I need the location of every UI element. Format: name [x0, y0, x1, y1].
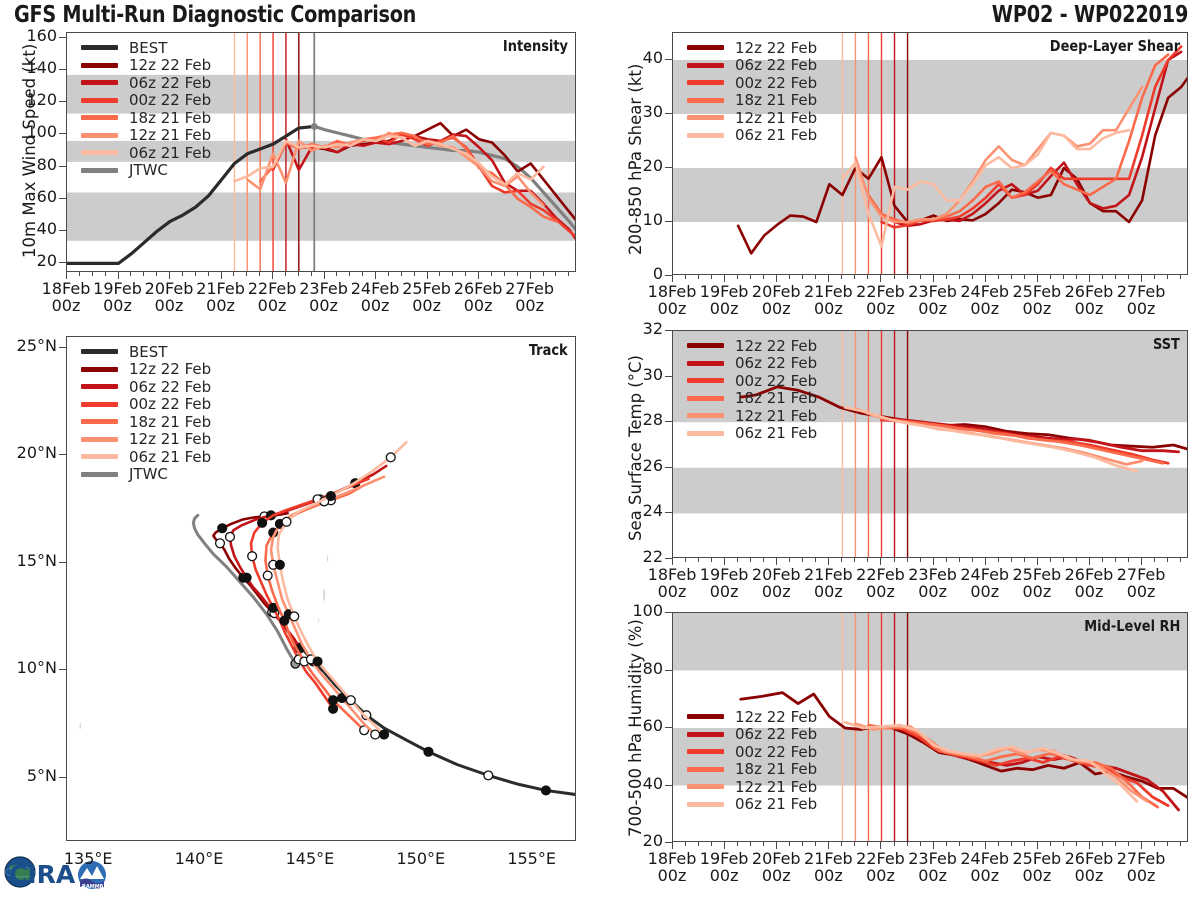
x-tick-label: 22Feb00z: [850, 850, 910, 885]
x-minor-tick: [555, 272, 556, 276]
x-tick-hour: 00z: [970, 299, 999, 318]
y-tick-label: 10: [643, 210, 663, 229]
x-minor-tick: [789, 842, 790, 846]
legend-entry: 06z 22 Feb: [687, 355, 817, 373]
legend-swatch-icon: [687, 396, 724, 401]
y-tick-mark: [665, 421, 672, 422]
x-minor-tick: [1102, 842, 1103, 846]
x-tick-day: 26Feb: [454, 279, 503, 298]
legend-label: 00z 22 Feb: [129, 395, 211, 413]
track-marker: [290, 612, 299, 621]
x-tick-hour: 00z: [412, 296, 441, 315]
legend-entry: BEST: [81, 39, 211, 57]
x-tick-day: 20Feb: [145, 279, 194, 298]
x-tick-hour: 00z: [1075, 299, 1104, 318]
x-tick-label: 18Feb00z: [642, 283, 702, 318]
legend-entry: JTWC: [81, 162, 211, 180]
x-minor-tick: [1011, 275, 1012, 279]
x-minor-tick: [946, 275, 947, 279]
x-tick-day: 20Feb: [752, 565, 801, 584]
legend-entry: 12z 22 Feb: [81, 361, 211, 379]
x-tick-hour: 00z: [658, 299, 687, 318]
x-tick-day: 22Feb: [856, 565, 905, 584]
x-minor-tick: [92, 272, 93, 276]
legend-entry: 06z 21 Feb: [687, 425, 817, 443]
x-tick-label: 27Feb00z: [1111, 850, 1171, 885]
x-minor-tick: [763, 275, 764, 279]
y-tick-mark: [665, 59, 672, 60]
legend-swatch-icon: [81, 45, 118, 50]
y-tick-label: 0: [653, 264, 663, 283]
x-tick-hour: 00z: [970, 582, 999, 601]
x-minor-tick: [1050, 842, 1051, 846]
x-tick-label: 27Feb00z: [500, 280, 560, 315]
x-tick-mark: [880, 275, 881, 282]
legend-label: 00z 22 Feb: [129, 91, 211, 109]
x-minor-tick: [1115, 275, 1116, 279]
legend-entry: 12z 21 Feb: [687, 407, 817, 425]
y-axis-label: 700-500 hPa Humidity (%): [626, 620, 645, 838]
legend-label: 12z 21 Feb: [735, 407, 817, 425]
legend-sst: 12z 22 Feb06z 22 Feb00z 22 Feb18z 21 Feb…: [687, 337, 817, 442]
y-tick-mark: [665, 376, 672, 377]
y-tick-label: 160: [26, 26, 57, 45]
legend-swatch-icon: [687, 98, 724, 103]
legend-swatch-icon: [687, 80, 724, 85]
y-tick-label: 20: [643, 156, 663, 175]
x-tick-hour: 00z: [918, 582, 947, 601]
legend-label: 12z 22 Feb: [735, 39, 817, 57]
x-minor-tick: [907, 842, 908, 846]
x-tick-mark: [427, 272, 428, 279]
x-minor-tick: [867, 275, 868, 279]
track-marker: [542, 786, 551, 795]
legend-swatch-icon: [687, 732, 724, 737]
x-tick-hour: 00z: [155, 296, 184, 315]
x-minor-tick: [711, 558, 712, 562]
x-minor-tick: [362, 272, 363, 276]
x-tick-day: 27Feb: [1117, 282, 1166, 301]
legend-swatch-icon: [687, 45, 724, 50]
legend-swatch-icon: [687, 343, 724, 348]
x-minor-tick: [1154, 558, 1155, 562]
legend-label: 06z 22 Feb: [735, 56, 817, 74]
x-tick-label: 23Feb00z: [903, 850, 963, 885]
x-tick-hour: 00z: [1022, 866, 1051, 885]
track-marker: [329, 696, 338, 705]
x-tick-label: 20Feb00z: [746, 283, 806, 318]
intensity-band: [673, 468, 1188, 514]
legend-label: 18z 21 Feb: [735, 91, 817, 109]
x-tick-hour: 00z: [258, 296, 287, 315]
x-tick-hour: 00z: [1022, 299, 1051, 318]
x-tick-hour: 00z: [710, 582, 739, 601]
legend-swatch-icon: [687, 784, 724, 789]
x-tick-label: 26Feb00z: [1059, 850, 1119, 885]
lon-tick-label: 135°E: [52, 850, 124, 867]
x-tick-hour: 00z: [658, 866, 687, 885]
legend-swatch-icon: [687, 133, 724, 138]
x-tick-mark: [375, 272, 376, 279]
x-minor-tick: [1128, 275, 1129, 279]
panel-label-shear: Deep-Layer Shear: [1050, 37, 1180, 55]
legend-label: 00z 22 Feb: [735, 372, 817, 390]
x-tick-mark: [933, 558, 934, 565]
y-tick-mark: [59, 101, 66, 102]
x-tick-label: 25Feb00z: [1007, 850, 1067, 885]
panel-rh: Mid-Level RH12z 22 Feb06z 22 Feb00z 22 F…: [672, 612, 1188, 842]
y-tick-label: 20: [643, 831, 663, 850]
x-minor-tick: [815, 842, 816, 846]
legend-entry: 18z 21 Feb: [687, 761, 817, 779]
x-tick-day: 25Feb: [1013, 849, 1062, 868]
x-minor-tick: [854, 558, 855, 562]
x-minor-tick: [1024, 558, 1025, 562]
x-minor-tick: [439, 272, 440, 276]
x-minor-tick: [298, 272, 299, 276]
y-tick-label: 40: [37, 219, 57, 238]
storm-id-title: WP02 - WP022019: [992, 2, 1188, 28]
x-tick-mark: [478, 272, 479, 279]
x-minor-tick: [998, 275, 999, 279]
y-tick-label: 30: [643, 365, 663, 384]
panel-track: TrackBEST12z 22 Feb06z 22 Feb00z 22 Feb1…: [66, 336, 576, 841]
track-marker: [226, 532, 235, 541]
x-minor-tick: [1102, 558, 1103, 562]
panel-label-track: Track: [529, 341, 568, 359]
legend-label: 06z 21 Feb: [735, 126, 817, 144]
legend-entry: 12z 22 Feb: [687, 708, 817, 726]
x-minor-tick: [920, 275, 921, 279]
series-track-06z-21-feb: [278, 442, 407, 734]
y-tick-mark: [665, 785, 672, 786]
y-tick-label: 22: [643, 547, 663, 566]
track-marker: [326, 492, 335, 501]
x-tick-label: 19Feb00z: [694, 566, 754, 601]
x-tick-hour: 00z: [1127, 866, 1156, 885]
x-tick-day: 19Feb: [700, 565, 749, 584]
x-tick-mark: [985, 275, 986, 282]
x-tick-hour: 00z: [1127, 582, 1156, 601]
legend-swatch-icon: [81, 63, 118, 68]
legend-label: 18z 21 Feb: [129, 413, 211, 431]
x-tick-hour: 00z: [1022, 582, 1051, 601]
legend-label: 12z 21 Feb: [735, 109, 817, 127]
y-tick-mark: [665, 727, 672, 728]
x-tick-day: 23Feb: [908, 565, 957, 584]
legend-label: 18z 21 Feb: [735, 760, 817, 778]
x-minor-tick: [452, 272, 453, 276]
y-tick-label: 26: [643, 456, 663, 475]
x-tick-hour: 00z: [762, 866, 791, 885]
series-track-best: [295, 642, 576, 795]
legend-entry: 18z 21 Feb: [81, 413, 211, 431]
x-minor-tick: [1180, 842, 1181, 846]
x-minor-tick: [143, 272, 144, 276]
x-tick-day: 26Feb: [1065, 565, 1114, 584]
x-tick-day: 21Feb: [804, 849, 853, 868]
lon-tick-label: 150°E: [385, 850, 457, 867]
x-minor-tick: [130, 272, 131, 276]
legend-entry: 06z 22 Feb: [687, 57, 817, 75]
x-tick-mark: [169, 272, 170, 279]
x-tick-day: 27Feb: [505, 279, 554, 298]
y-tick-label: 40: [643, 774, 663, 793]
island-shape: [318, 618, 319, 622]
legend-entry: 12z 22 Feb: [687, 39, 817, 57]
y-tick-label: 25°N: [17, 336, 57, 355]
legend-entry: 18z 21 Feb: [687, 92, 817, 110]
legend-label: 12z 22 Feb: [735, 337, 817, 355]
x-tick-label: 25Feb00z: [1007, 566, 1067, 601]
x-minor-tick: [311, 272, 312, 276]
x-minor-tick: [802, 558, 803, 562]
jtwc-start-marker: [311, 123, 318, 130]
legend-entry: 06z 21 Feb: [81, 448, 211, 466]
x-tick-label: 26Feb00z: [1059, 566, 1119, 601]
legend-entry: 00z 22 Feb: [687, 74, 817, 92]
legend-entry: 06z 21 Feb: [81, 144, 211, 162]
y-tick-mark: [665, 330, 672, 331]
x-tick-mark: [776, 558, 777, 565]
x-minor-tick: [1167, 842, 1168, 846]
y-tick-mark: [59, 262, 66, 263]
legend-swatch-icon: [81, 402, 118, 407]
legend-swatch-icon: [81, 367, 118, 372]
legend-swatch-icon: [81, 437, 118, 442]
x-minor-tick: [894, 558, 895, 562]
x-tick-hour: 00z: [814, 299, 843, 318]
track-marker: [380, 730, 389, 739]
y-tick-mark: [59, 230, 66, 231]
x-minor-tick: [867, 558, 868, 562]
x-minor-tick: [959, 275, 960, 279]
x-minor-tick: [1076, 275, 1077, 279]
x-minor-tick: [920, 558, 921, 562]
x-minor-tick: [517, 272, 518, 276]
panel-label-intensity: Intensity: [503, 37, 568, 55]
legend-entry: 18z 21 Feb: [81, 109, 211, 127]
x-tick-hour: 00z: [710, 866, 739, 885]
legend-entry: 06z 21 Feb: [687, 127, 817, 145]
x-tick-label: 18Feb00z: [642, 566, 702, 601]
legend-entry: 12z 21 Feb: [81, 431, 211, 449]
page-title: GFS Multi-Run Diagnostic Comparison: [14, 2, 416, 28]
legend-entry: 12z 21 Feb: [687, 109, 817, 127]
x-tick-hour: 00z: [52, 296, 81, 315]
legend-label: 06z 21 Feb: [129, 448, 211, 466]
x-minor-tick: [894, 275, 895, 279]
x-tick-day: 24Feb: [960, 849, 1009, 868]
intensity-band: [67, 192, 576, 240]
x-tick-hour: 00z: [866, 299, 895, 318]
x-tick-day: 21Feb: [804, 565, 853, 584]
x-minor-tick: [1115, 842, 1116, 846]
legend-intensity: BEST12z 22 Feb06z 22 Feb00z 22 Feb18z 21…: [81, 39, 211, 179]
x-tick-hour: 00z: [762, 299, 791, 318]
panel-intensity: IntensityBEST12z 22 Feb06z 22 Feb00z 22 …: [66, 32, 576, 272]
x-minor-tick: [1063, 275, 1064, 279]
track-marker: [346, 696, 355, 705]
x-tick-label: 21Feb00z: [798, 850, 858, 885]
legend-entry: 12z 21 Feb: [687, 778, 817, 796]
rammb-label: RAMMB: [82, 884, 104, 890]
x-tick-hour: 00z: [515, 296, 544, 315]
x-minor-tick: [698, 275, 699, 279]
legend-swatch-icon: [81, 454, 118, 459]
x-minor-tick: [388, 272, 389, 276]
legend-label: 18z 21 Feb: [735, 389, 817, 407]
track-marker: [386, 453, 395, 462]
x-tick-hour: 00z: [206, 296, 235, 315]
x-minor-tick: [802, 842, 803, 846]
x-minor-tick: [1024, 275, 1025, 279]
x-minor-tick: [972, 842, 973, 846]
x-tick-day: 23Feb: [908, 849, 957, 868]
x-tick-label: 27Feb00z: [1111, 283, 1171, 318]
x-tick-mark: [776, 842, 777, 849]
x-minor-tick: [894, 842, 895, 846]
x-tick-mark: [1089, 558, 1090, 565]
x-tick-mark: [1141, 558, 1142, 565]
x-minor-tick: [1076, 558, 1077, 562]
x-tick-mark: [985, 558, 986, 565]
x-minor-tick: [750, 558, 751, 562]
x-tick-mark: [1141, 842, 1142, 849]
x-minor-tick: [763, 842, 764, 846]
x-minor-tick: [491, 272, 492, 276]
track-marker: [371, 730, 380, 739]
x-tick-mark: [1089, 275, 1090, 282]
x-minor-tick: [763, 558, 764, 562]
x-minor-tick: [698, 558, 699, 562]
panel-label-rh: Mid-Level RH: [1084, 617, 1180, 635]
y-tick-label: 15°N: [17, 551, 57, 570]
intensity-band: [673, 168, 1188, 222]
x-tick-hour: 00z: [1075, 582, 1104, 601]
y-tick-label: 30: [643, 102, 663, 121]
x-tick-hour: 00z: [103, 296, 132, 315]
x-minor-tick: [1128, 558, 1129, 562]
legend-label: 06z 21 Feb: [129, 144, 211, 162]
series-track-12z-21-feb: [271, 477, 384, 735]
x-tick-label: 24Feb00z: [955, 566, 1015, 601]
x-tick-mark: [1037, 558, 1038, 565]
x-tick-mark: [828, 842, 829, 849]
y-tick-label: 100: [632, 601, 663, 620]
x-tick-day: 22Feb: [856, 282, 905, 301]
x-tick-day: 25Feb: [1013, 565, 1062, 584]
x-tick-label: 20Feb00z: [746, 850, 806, 885]
y-tick-label: 24: [643, 501, 663, 520]
legend-entry: 12z 21 Feb: [81, 127, 211, 145]
x-tick-day: 23Feb: [908, 282, 957, 301]
y-tick-mark: [59, 777, 66, 778]
legend-swatch-icon: [687, 115, 724, 120]
x-tick-label: 19Feb00z: [694, 850, 754, 885]
x-tick-label: 21Feb00z: [798, 566, 858, 601]
x-minor-tick: [854, 275, 855, 279]
y-tick-label: 80: [643, 659, 663, 678]
legend-label: 06z 22 Feb: [735, 354, 817, 372]
x-tick-mark: [324, 272, 325, 279]
x-tick-mark: [933, 275, 934, 282]
legend-label: 06z 21 Feb: [735, 795, 817, 813]
y-tick-label: 10°N: [17, 658, 57, 677]
x-minor-tick: [1011, 558, 1012, 562]
legend-swatch-icon: [81, 115, 118, 120]
lon-tick-label: 140°E: [163, 850, 235, 867]
x-tick-hour: 00z: [866, 582, 895, 601]
x-tick-mark: [66, 272, 67, 279]
x-tick-day: 27Feb: [1117, 849, 1166, 868]
legend-swatch-icon: [687, 413, 724, 418]
legend-swatch-icon: [81, 133, 118, 138]
y-tick-mark: [59, 133, 66, 134]
island-shape: [80, 723, 81, 729]
x-minor-tick: [998, 842, 999, 846]
x-tick-label: 23Feb00z: [903, 283, 963, 318]
x-tick-day: 18Feb: [648, 565, 697, 584]
track-marker: [313, 657, 322, 666]
y-tick-label: 40: [643, 48, 663, 67]
x-tick-label: 27Feb00z: [1111, 566, 1171, 601]
x-tick-day: 18Feb: [648, 849, 697, 868]
y-tick-mark: [665, 612, 672, 613]
y-tick-mark: [59, 347, 66, 348]
x-tick-hour: 00z: [762, 582, 791, 601]
legend-entry: 18z 21 Feb: [687, 390, 817, 408]
x-tick-label: 25Feb00z: [1007, 283, 1067, 318]
track-marker: [484, 771, 493, 780]
x-minor-tick: [907, 558, 908, 562]
x-minor-tick: [841, 842, 842, 846]
x-tick-day: 21Feb: [196, 279, 245, 298]
legend-swatch-icon: [81, 349, 118, 354]
x-tick-day: 23Feb: [299, 279, 348, 298]
x-tick-mark: [724, 558, 725, 565]
x-tick-label: 19Feb00z: [694, 283, 754, 318]
x-minor-tick: [698, 842, 699, 846]
x-minor-tick: [1050, 558, 1051, 562]
x-minor-tick: [685, 558, 686, 562]
legend-label: 12z 22 Feb: [735, 708, 817, 726]
x-minor-tick: [1167, 275, 1168, 279]
x-minor-tick: [815, 558, 816, 562]
y-tick-mark: [665, 113, 672, 114]
y-tick-mark: [665, 221, 672, 222]
y-axis-label: 10m Max Wind Speed (kt): [20, 44, 39, 258]
x-minor-tick: [1050, 275, 1051, 279]
x-minor-tick: [1154, 842, 1155, 846]
y-tick-mark: [665, 167, 672, 168]
legend-entry: BEST: [81, 343, 211, 361]
x-tick-hour: 00z: [918, 299, 947, 318]
x-tick-mark: [880, 842, 881, 849]
x-minor-tick: [1115, 558, 1116, 562]
y-tick-mark: [59, 669, 66, 670]
y-axis-label: Sea Surface Temp (°C): [626, 355, 645, 541]
x-tick-mark: [880, 558, 881, 565]
x-minor-tick: [685, 842, 686, 846]
x-minor-tick: [1167, 558, 1168, 562]
legend-label: 06z 22 Feb: [129, 378, 211, 396]
x-minor-tick: [568, 272, 569, 276]
legend-entry: 12z 22 Feb: [687, 337, 817, 355]
lon-tick-label: 155°E: [496, 850, 568, 867]
x-tick-mark: [272, 272, 273, 279]
x-tick-mark: [672, 842, 673, 849]
